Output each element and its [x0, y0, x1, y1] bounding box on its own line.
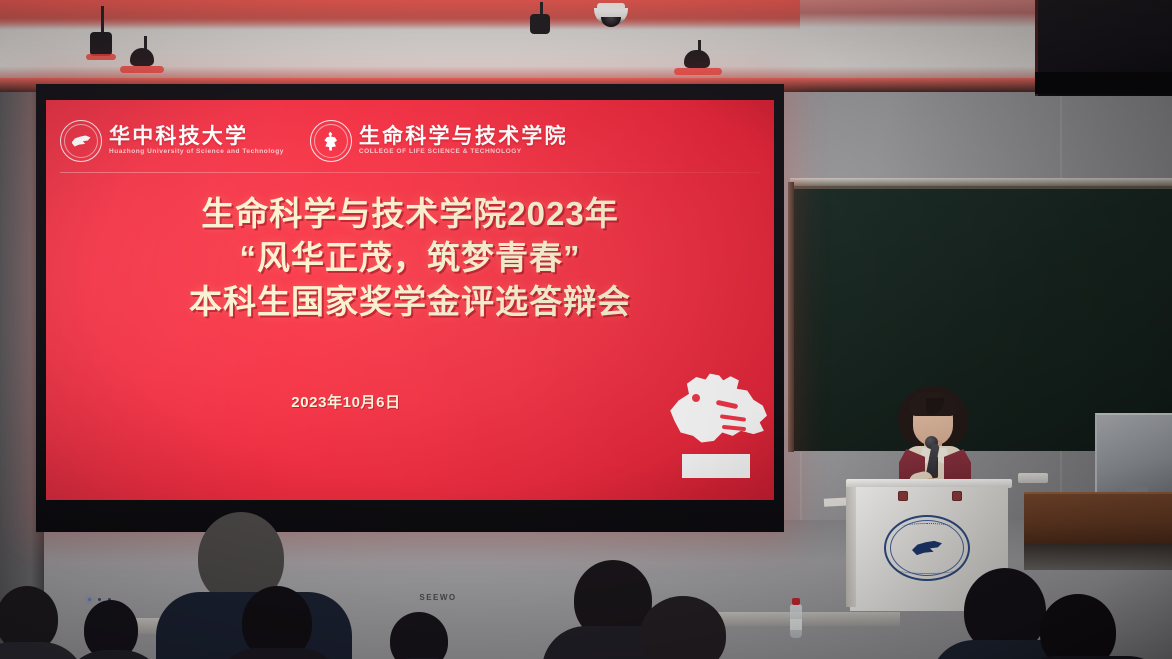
water-bottle-1 [790, 604, 802, 638]
counter-base-shadow [1024, 544, 1172, 570]
slide-date: 2023年10月6日 [46, 391, 646, 412]
university-name-cn: 华中科技大学 [109, 126, 284, 147]
college-seal-icon [310, 120, 352, 162]
display-brand-label: SEEWO [414, 593, 462, 603]
spotlight-4 [672, 40, 724, 82]
side-shelf [1018, 473, 1048, 483]
camera-mount [597, 3, 625, 10]
lectern-button-right[interactable] [952, 491, 962, 501]
wooden-counter [1024, 492, 1172, 546]
college-name-en: COLLEGE OF LIFE SCIENCE & TECHNOLOGY [359, 149, 568, 156]
monument-sculpture-emblem-icon [662, 372, 770, 482]
hust-seal-icon [60, 120, 102, 162]
slide-title-line-1: 生命科学与技术学院2023年 [46, 192, 774, 236]
slide-title-line-3: 本科生国家奖学金评选答辩会 [46, 280, 774, 324]
college-logo: 生命科学与技术学院 COLLEGE OF LIFE SCIENCE & TECH… [310, 120, 568, 162]
lectern-button-left[interactable] [898, 491, 908, 501]
status-led [98, 598, 101, 601]
blackboard-left-frame [788, 182, 794, 452]
lectern-university-seal-icon [884, 515, 970, 581]
slide-title: 生命科学与技术学院2023年 “风华正茂，筑梦青春” 本科生国家奖学金评选答辩会 [46, 192, 774, 325]
university-name-en: Huazhong University of Science and Techn… [109, 149, 284, 156]
slide-logo-row: 华中科技大学 Huazhong University of Science an… [60, 116, 760, 166]
upper-right-panel-shadow [1035, 72, 1172, 94]
lectern-side-panel [846, 487, 856, 607]
desktop-monitor [1095, 413, 1172, 495]
presenter-fringe [909, 392, 957, 416]
college-name-cn: 生命科学与技术学院 [359, 126, 568, 147]
slide-title-line-2: “风华正茂，筑梦青春” [46, 236, 774, 280]
spotlight-2 [120, 36, 166, 78]
power-led [88, 598, 91, 601]
spotlight-3 [524, 2, 558, 40]
presentation-slide[interactable]: 华中科技大学 Huazhong University of Science an… [46, 100, 774, 500]
lecture-hall-scene: SEEWO 华中科技大学 Huazhong University of Scie… [0, 0, 1172, 659]
university-logo: 华中科技大学 Huazhong University of Science an… [60, 120, 284, 162]
spotlight-1 [82, 6, 122, 72]
slide-header-divider [60, 172, 760, 173]
